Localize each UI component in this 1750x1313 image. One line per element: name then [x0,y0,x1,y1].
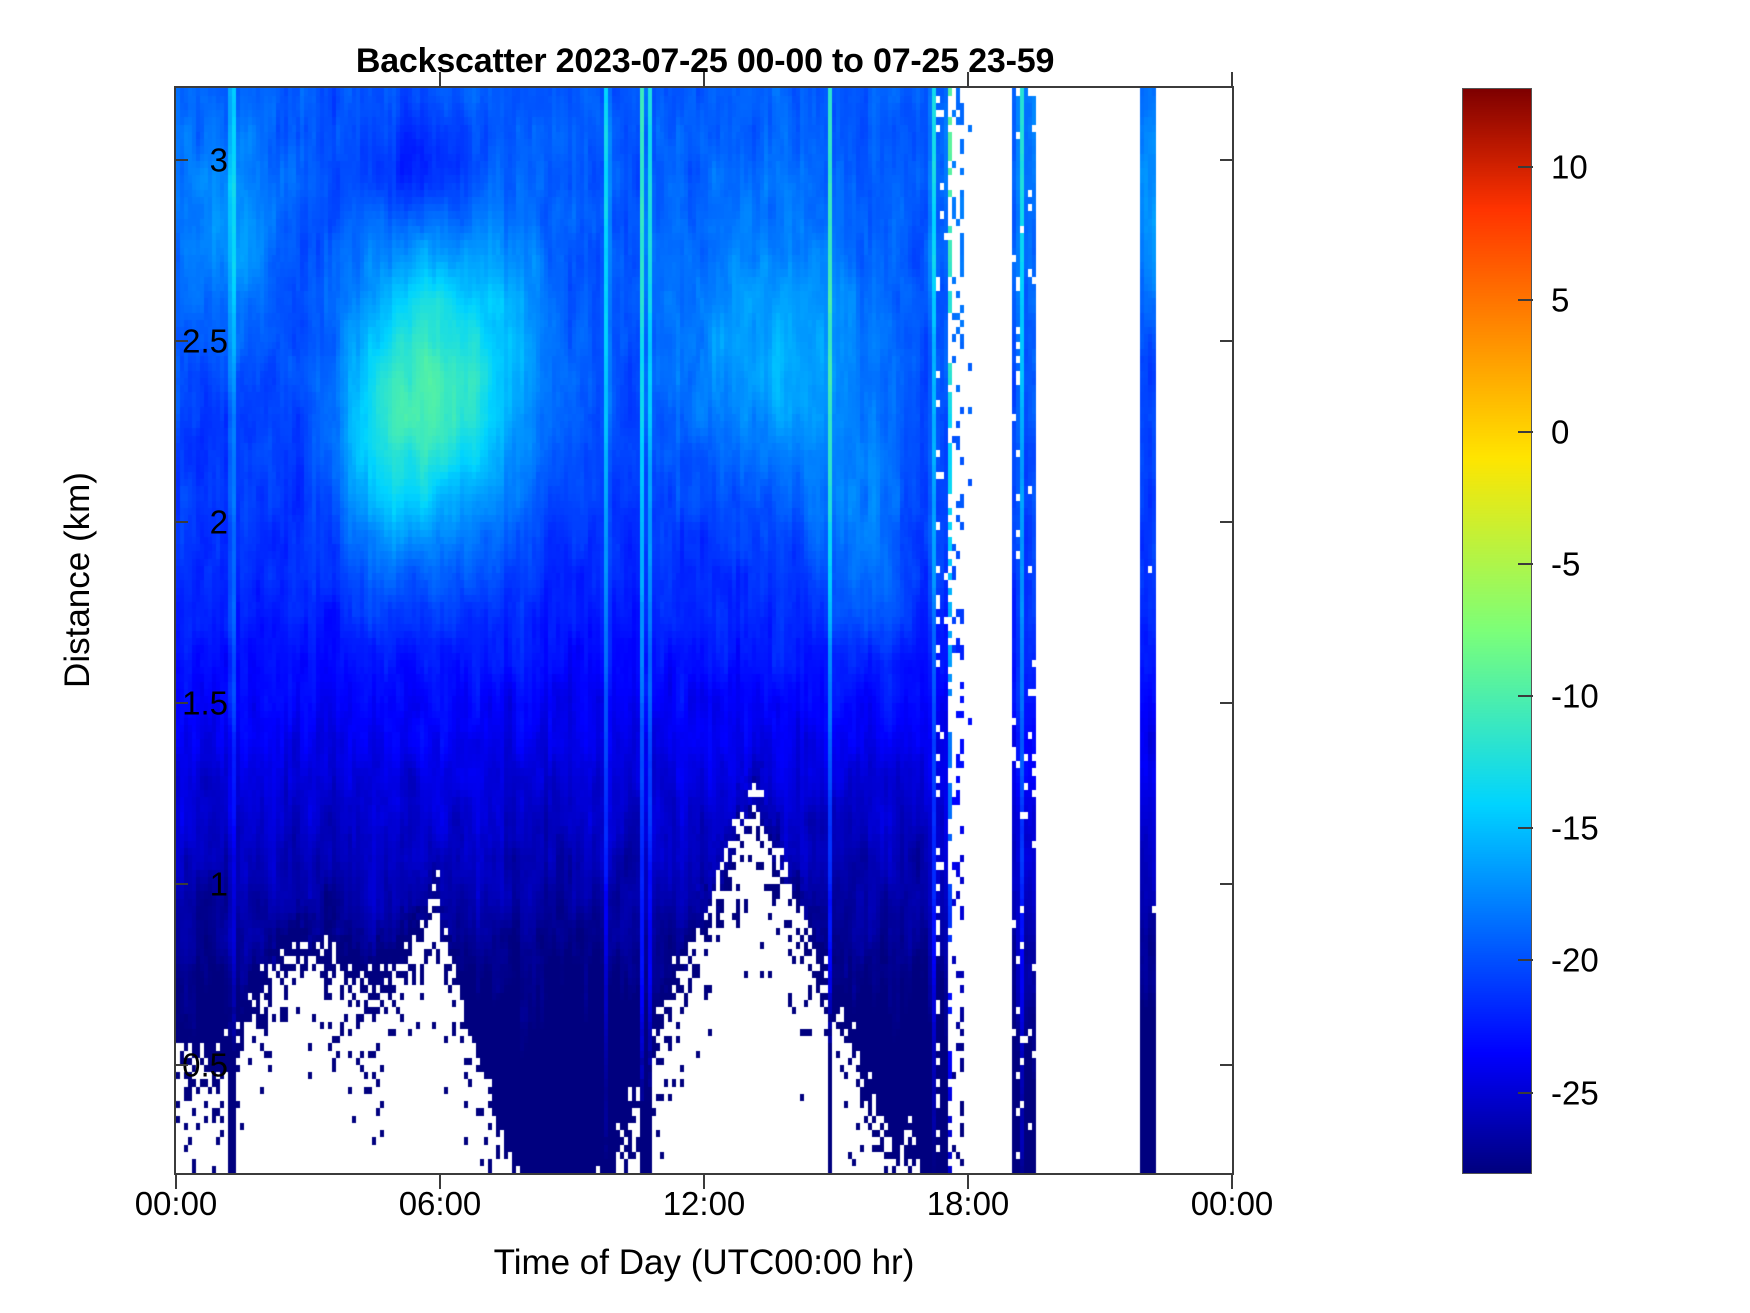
y-tick-label: 1.5 [182,686,228,719]
y-tick-mark-right [1220,340,1234,342]
y-tick-mark [174,702,188,704]
colorbar-tick-label: 10 [1551,151,1588,184]
colorbar-tick-mark [1518,1092,1533,1094]
x-tick-mark [703,1175,705,1189]
colorbar-tick-mark [1518,431,1533,433]
y-tick-label: 1 [210,867,228,900]
y-tick-mark [174,521,188,523]
plot-area [174,86,1234,1175]
colorbar [1462,88,1532,1174]
x-tick-label: 00:00 [135,1187,218,1220]
x-tick-mark [967,1175,969,1189]
colorbar-tick-mark [1518,695,1533,697]
colorbar-gradient [1463,89,1531,1173]
x-tick-mark-top [1231,72,1233,86]
colorbar-tick-mark [1518,827,1533,829]
x-tick-mark-top [703,72,705,86]
y-tick-mark-right [1220,883,1234,885]
page-title: Backscatter 2023-07-25 00-00 to 07-25 23… [175,42,1235,81]
y-tick-label: 2.5 [182,325,228,358]
x-tick-mark-top [967,72,969,86]
colorbar-tick-mark [1518,959,1533,961]
colorbar-tick-label: -10 [1551,680,1599,713]
x-tick-label: 12:00 [663,1187,746,1220]
y-tick-mark [174,159,188,161]
colorbar-tick-label: 5 [1551,283,1569,316]
y-tick-mark-right [1220,1064,1234,1066]
colorbar-tick-mark [1518,299,1533,301]
y-tick-mark [174,340,188,342]
colorbar-tick-mark [1518,563,1533,565]
x-tick-mark [1231,1175,1233,1189]
heatmap-canvas [176,88,1232,1173]
x-tick-mark [175,1175,177,1189]
colorbar-tick-label: 0 [1551,415,1569,448]
y-axis-label: Distance (km) [58,370,98,790]
y-tick-mark [174,1064,188,1066]
colorbar-tick-mark [1518,166,1533,168]
x-tick-label: 00:00 [1191,1187,1274,1220]
colorbar-tick-label: -15 [1551,812,1599,845]
backscatter-figure: Backscatter 2023-07-25 00-00 to 07-25 23… [0,0,1750,1313]
y-tick-label: 3 [210,144,228,177]
colorbar-tick-label: -5 [1551,547,1580,580]
y-tick-mark-right [1220,159,1234,161]
x-tick-label: 06:00 [399,1187,482,1220]
y-tick-mark-right [1220,702,1234,704]
y-tick-mark [174,883,188,885]
x-axis-label: Time of Day (UTC00:00 hr) [174,1243,1234,1283]
y-tick-label: 2 [210,506,228,539]
colorbar-tick-label: -25 [1551,1076,1599,1109]
x-tick-mark-top [439,72,441,86]
x-tick-mark [439,1175,441,1189]
y-tick-mark-right [1220,521,1234,523]
y-tick-label: 0.5 [182,1048,228,1081]
colorbar-tick-label: -20 [1551,944,1599,977]
x-tick-label: 18:00 [927,1187,1010,1220]
